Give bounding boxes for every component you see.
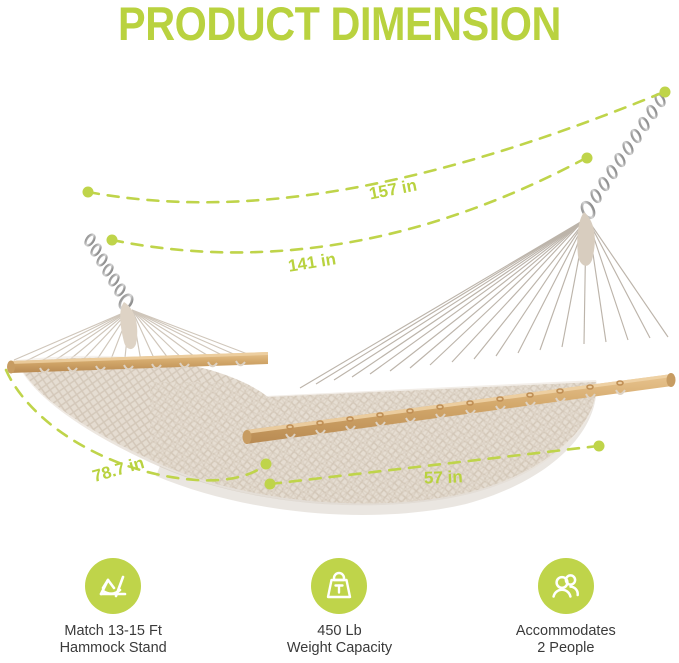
dimension-endpoint-dot xyxy=(107,235,118,246)
dimension-endpoint-dot xyxy=(594,441,605,452)
left-chain xyxy=(84,233,135,311)
dimension-endpoint-dot xyxy=(582,153,593,164)
feature-weight-capacity: 450 Lb Weight Capacity xyxy=(237,558,442,657)
feature-caption: Match 13-15 Ft Hammock Stand xyxy=(60,623,167,657)
product-dimension-infographic: PRODUCT DIMENSION xyxy=(0,0,679,663)
feature-caption-line2: Hammock Stand xyxy=(60,640,167,657)
dimension-endpoint-dot xyxy=(83,187,94,198)
weight-icon xyxy=(322,569,356,603)
feature-hammock-stand: Match 13-15 Ft Hammock Stand xyxy=(11,558,216,657)
feature-caption-line1: 450 Lb xyxy=(287,623,392,640)
dimension-endpoint-dot xyxy=(261,459,272,470)
hammock-illustration xyxy=(0,52,679,520)
page-title: PRODUCT DIMENSION xyxy=(41,0,639,50)
right-chain xyxy=(579,93,666,220)
feature-icon-badge xyxy=(538,558,594,614)
feature-caption: Accommodates 2 People xyxy=(516,623,616,657)
feature-caption-line1: Accommodates xyxy=(516,623,616,640)
dimension-endpoint-dot xyxy=(265,479,276,490)
right-rope-gather xyxy=(577,212,595,266)
hammock-stand-icon xyxy=(95,568,131,604)
feature-icon-badge xyxy=(85,558,141,614)
feature-caption: 450 Lb Weight Capacity xyxy=(287,623,392,657)
feature-accommodates: Accommodates 2 People xyxy=(463,558,668,657)
dimension-label-spreader-width: 57 in xyxy=(424,467,463,488)
feature-caption-line2: 2 People xyxy=(516,640,616,657)
right-rope-fan xyxy=(300,220,668,388)
feature-caption-line2: Weight Capacity xyxy=(287,640,392,657)
feature-caption-line1: Match 13-15 Ft xyxy=(60,623,167,640)
left-rope-gather xyxy=(120,302,137,349)
dimension-endpoint-dot xyxy=(660,87,671,98)
feature-icon-badge xyxy=(311,558,367,614)
two-people-icon xyxy=(548,568,584,604)
feature-row: Match 13-15 Ft Hammock Stand 450 Lb Weig… xyxy=(0,558,679,663)
